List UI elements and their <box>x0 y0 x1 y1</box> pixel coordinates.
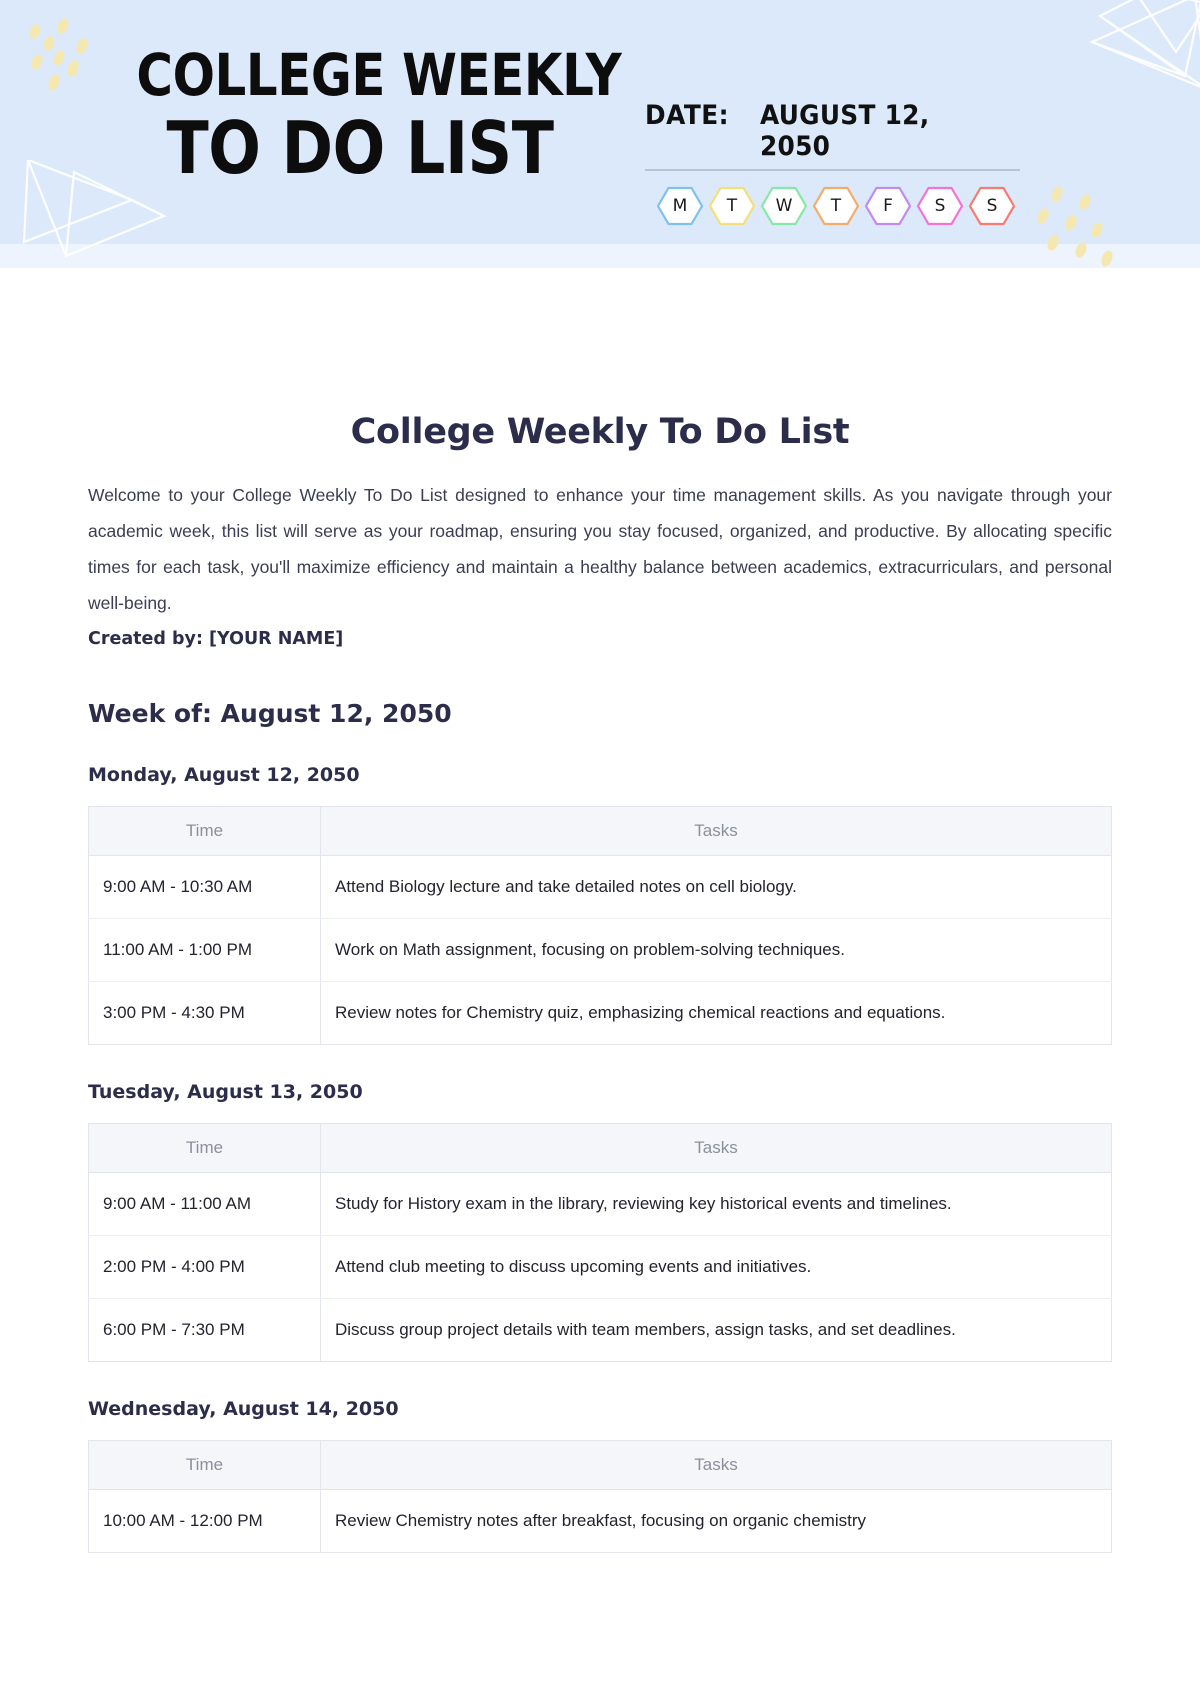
table-header-row: Time Tasks <box>89 1124 1112 1173</box>
table-row: 11:00 AM - 1:00 PM Work on Math assignme… <box>89 919 1112 982</box>
table-row: 3:00 PM - 4:30 PM Review notes for Chemi… <box>89 982 1112 1045</box>
intro-paragraph: Welcome to your College Weekly To Do Lis… <box>88 477 1112 621</box>
day-heading-wednesday: Wednesday, August 14, 2050 <box>88 1398 1112 1420</box>
column-header-time: Time <box>89 1441 321 1490</box>
schedule-table-monday: Time Tasks 9:00 AM - 10:30 AM Attend Bio… <box>88 806 1112 1045</box>
decorative-triangles-top-right <box>980 0 1200 110</box>
day-hex-label: M <box>657 186 703 226</box>
day-heading-tuesday: Tuesday, August 13, 2050 <box>88 1081 1112 1103</box>
banner-date-block: DATE: AUGUST 12, 2050 M T <box>645 100 1020 226</box>
cell-task: Study for History exam in the library, r… <box>321 1173 1112 1236</box>
day-hex-label: F <box>865 186 911 226</box>
header-banner: COLLEGE WEEKLY TO DO LIST DATE: AUGUST 1… <box>0 0 1200 268</box>
cell-task: Review Chemistry notes after breakfast, … <box>321 1490 1112 1553</box>
table-row: 2:00 PM - 4:00 PM Attend club meeting to… <box>89 1236 1112 1299</box>
document-body: College Weekly To Do List Welcome to you… <box>0 268 1200 1553</box>
table-header-row: Time Tasks <box>89 1441 1112 1490</box>
day-hex-monday[interactable]: M <box>657 186 703 226</box>
day-hex-tuesday[interactable]: T <box>709 186 755 226</box>
table-row: 6:00 PM - 7:30 PM Discuss group project … <box>89 1299 1112 1362</box>
cell-task: Review notes for Chemistry quiz, emphasi… <box>321 982 1112 1045</box>
table-row: 9:00 AM - 11:00 AM Study for History exa… <box>89 1173 1112 1236</box>
schedule-table-tuesday: Time Tasks 9:00 AM - 11:00 AM Study for … <box>88 1123 1112 1362</box>
created-by-line: Created by: [YOUR NAME] <box>88 621 1112 655</box>
date-label: DATE: <box>645 100 729 131</box>
column-header-tasks: Tasks <box>321 807 1112 856</box>
column-header-time: Time <box>89 1124 321 1173</box>
banner-lower-band <box>0 244 1200 268</box>
date-row: DATE: AUGUST 12, 2050 <box>645 100 1020 171</box>
day-heading-monday: Monday, August 12, 2050 <box>88 764 1112 786</box>
day-hex-label: S <box>917 186 963 226</box>
cell-time: 9:00 AM - 10:30 AM <box>89 856 321 919</box>
date-value: AUGUST 12, 2050 <box>760 100 999 162</box>
day-hex-label: W <box>761 186 807 226</box>
decorative-dots-top-left <box>22 18 112 93</box>
day-hex-sunday[interactable]: S <box>969 186 1015 226</box>
cell-task: Discuss group project details with team … <box>321 1299 1112 1362</box>
cell-task: Work on Math assignment, focusing on pro… <box>321 919 1112 982</box>
day-hex-label: S <box>969 186 1015 226</box>
cell-task: Attend club meeting to discuss upcoming … <box>321 1236 1112 1299</box>
column-header-time: Time <box>89 807 321 856</box>
day-hex-wednesday[interactable]: W <box>761 186 807 226</box>
banner-title-line-1: COLLEGE WEEKLY <box>136 46 583 104</box>
day-hex-label: T <box>709 186 755 226</box>
cell-time: 6:00 PM - 7:30 PM <box>89 1299 321 1362</box>
schedule-table-wednesday: Time Tasks 10:00 AM - 12:00 PM Review Ch… <box>88 1440 1112 1553</box>
column-header-tasks: Tasks <box>321 1441 1112 1490</box>
cell-time: 3:00 PM - 4:30 PM <box>89 982 321 1045</box>
day-hex-thursday[interactable]: T <box>813 186 859 226</box>
day-selector[interactable]: M T W T <box>645 186 1020 226</box>
day-hex-label: T <box>813 186 859 226</box>
page-title: College Weekly To Do List <box>88 268 1112 452</box>
cell-time: 11:00 AM - 1:00 PM <box>89 919 321 982</box>
table-header-row: Time Tasks <box>89 807 1112 856</box>
day-hex-friday[interactable]: F <box>865 186 911 226</box>
column-header-tasks: Tasks <box>321 1124 1112 1173</box>
cell-time: 2:00 PM - 4:00 PM <box>89 1236 321 1299</box>
banner-title-line-2: TO DO LIST <box>136 112 583 184</box>
cell-time: 9:00 AM - 11:00 AM <box>89 1173 321 1236</box>
day-hex-saturday[interactable]: S <box>917 186 963 226</box>
banner-title-block: COLLEGE WEEKLY TO DO LIST <box>100 46 620 184</box>
cell-task: Attend Biology lecture and take detailed… <box>321 856 1112 919</box>
week-of-heading: Week of: August 12, 2050 <box>88 699 1112 728</box>
cell-time: 10:00 AM - 12:00 PM <box>89 1490 321 1553</box>
table-row: 10:00 AM - 12:00 PM Review Chemistry not… <box>89 1490 1112 1553</box>
table-row: 9:00 AM - 10:30 AM Attend Biology lectur… <box>89 856 1112 919</box>
